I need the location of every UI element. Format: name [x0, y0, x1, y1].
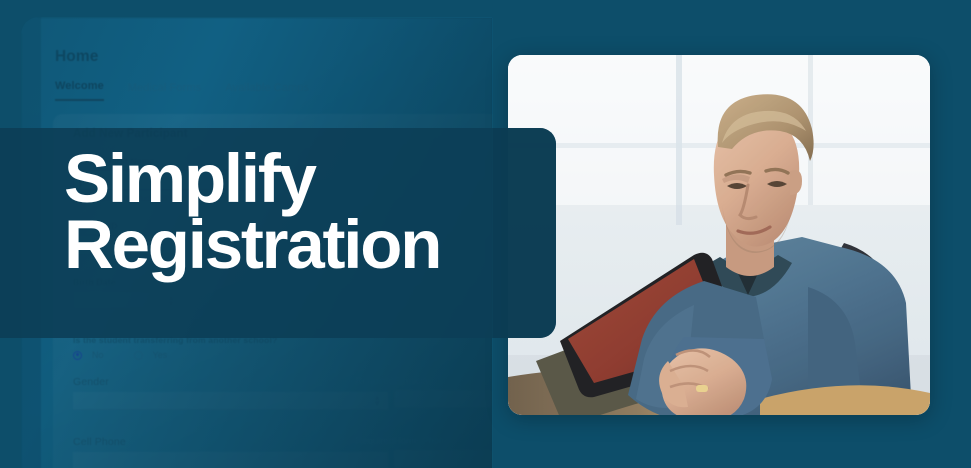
tab-bar: Welcome Medical Forms Available Camps [55, 80, 309, 101]
tab-available-camps[interactable]: Available Camps [225, 82, 309, 101]
tab-welcome[interactable]: Welcome [55, 80, 104, 101]
gender-select[interactable]: ▲▼ [73, 392, 388, 410]
headline-line-2: Registration [64, 212, 534, 278]
radio-label-yes: Yes [153, 350, 168, 360]
label-ethnicity: Ethnicity [394, 376, 492, 387]
label-home-phone: Home Phone [394, 436, 492, 447]
photo-illustration [508, 55, 930, 415]
hero-headline: Simplify Registration [64, 146, 534, 277]
hero-photo [508, 55, 930, 415]
home-phone-input[interactable] [394, 450, 492, 468]
row-cell-home-phone: Cell Phone Required Home Phone [73, 436, 492, 468]
radio-transfer-no[interactable] [73, 351, 82, 360]
radio-label-no: No [92, 350, 104, 360]
hero-banner: Home Welcome Medical Forms Available Cam… [0, 0, 971, 468]
transfer-radio-group: No Yes [73, 350, 492, 360]
cell-phone-input[interactable] [73, 452, 388, 468]
tab-medical-forms[interactable]: Medical Forms [128, 82, 201, 101]
field-transfer-school: Is the student transferring from another… [73, 335, 492, 360]
radio-transfer-yes[interactable] [134, 351, 143, 360]
gender-required-text: Required [355, 376, 394, 387]
ethnicity-input[interactable] [394, 390, 492, 408]
chevron-updown-icon: ▲▼ [373, 395, 381, 407]
cell-phone-required-text: Required [355, 436, 394, 447]
page-title: Home [55, 48, 98, 66]
row-gender-ethnicity: Gender Required Ethnicity ▲▼ [73, 376, 492, 410]
